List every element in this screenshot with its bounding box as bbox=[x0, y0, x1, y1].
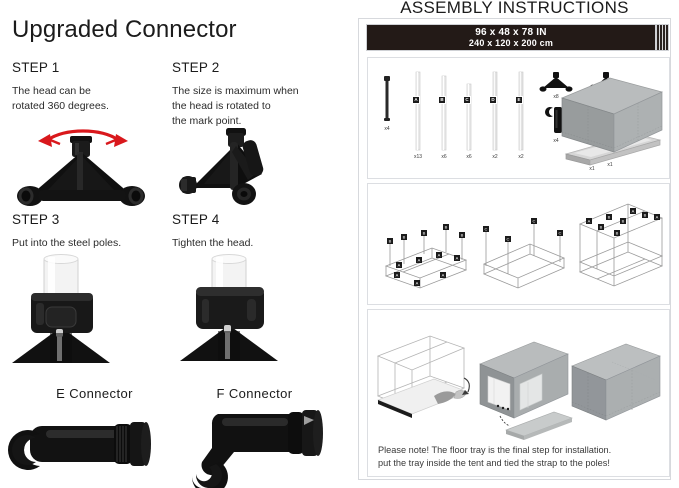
upgraded-connector-panel: Upgraded Connector STEP 1 The head can b… bbox=[0, 0, 350, 488]
cover-part bbox=[554, 74, 666, 156]
step-2-label: STEP 2 bbox=[172, 60, 337, 75]
pole-marker-d: D bbox=[489, 96, 497, 104]
pole-part-c bbox=[463, 84, 475, 150]
frame-assembly-panel: BBB BB AAA AAA A CC CC bbox=[367, 183, 670, 305]
svg-text:B: B bbox=[403, 235, 406, 240]
pole-qty-c: x6 bbox=[457, 154, 481, 160]
svg-text:B: B bbox=[461, 233, 464, 238]
pole-marker-b: B bbox=[438, 96, 446, 104]
svg-text:C: C bbox=[559, 231, 562, 236]
pole-marker-a: A bbox=[412, 96, 420, 104]
cover-open-stage bbox=[476, 338, 576, 448]
base-frame-stage: BBB BB AAA AAA A bbox=[374, 214, 474, 296]
svg-text:B: B bbox=[600, 225, 603, 230]
svg-text:A: A bbox=[418, 258, 421, 263]
pole-qty-e: x2 bbox=[509, 154, 533, 160]
pole-marker-c: C bbox=[463, 96, 471, 104]
strap-part bbox=[382, 76, 392, 124]
svg-text:A: A bbox=[632, 209, 635, 214]
svg-text:B: B bbox=[389, 239, 392, 244]
svg-text:B: B bbox=[644, 213, 647, 218]
svg-text:A: A bbox=[396, 273, 399, 278]
svg-text:B: B bbox=[423, 231, 426, 236]
dimensions-banner: 96 x 48 x 78 IN 240 x 120 x 200 cm bbox=[366, 24, 656, 51]
top-frame-stage: ABB BAB AB bbox=[576, 200, 668, 296]
svg-text:C: C bbox=[507, 237, 510, 242]
svg-text:A: A bbox=[398, 263, 401, 268]
pole-part-a bbox=[412, 72, 424, 150]
dimensions-imperial: 96 x 48 x 78 IN bbox=[475, 27, 546, 38]
step-4-block: STEP 4 Tighten the head. bbox=[172, 212, 337, 251]
svg-text:A: A bbox=[588, 219, 591, 224]
step-4-description: Tighten the head. bbox=[172, 236, 337, 251]
svg-text:A: A bbox=[456, 256, 459, 261]
cover-qty: x1 bbox=[598, 162, 622, 168]
svg-text:C: C bbox=[485, 227, 488, 232]
pole-tightened-icon bbox=[178, 255, 308, 367]
vertical-poles-stage: CC CC bbox=[478, 204, 570, 296]
e-connector-label: E Connector bbox=[12, 386, 177, 401]
step-2-block: STEP 2 The size is maximum when the head… bbox=[172, 60, 337, 129]
y-connector-angled-icon bbox=[174, 122, 324, 212]
step-3-block: STEP 3 Put into the steel poles. bbox=[12, 212, 177, 251]
pole-part-e bbox=[515, 72, 527, 150]
assembly-instructions-title: ASSEMBLY INSTRUCTIONS bbox=[358, 0, 671, 18]
tray-insert-stage bbox=[372, 334, 480, 434]
y-connector-rotating-icon bbox=[8, 122, 158, 212]
e-connector-icon bbox=[6, 404, 166, 484]
svg-text:B: B bbox=[608, 215, 611, 220]
pole-qty-d: x2 bbox=[483, 154, 507, 160]
pole-qty-b: x6 bbox=[432, 154, 456, 160]
step-3-label: STEP 3 bbox=[12, 212, 177, 227]
svg-text:B: B bbox=[622, 219, 625, 224]
pole-part-b bbox=[438, 76, 450, 150]
parts-list-panel: x4 A x13 B x6 C x6 D x2 bbox=[367, 57, 670, 179]
step-3-description: Put into the steel poles. bbox=[12, 236, 177, 251]
cover-closed-stage bbox=[568, 340, 668, 432]
f-connector-label: F Connector bbox=[172, 386, 337, 401]
pole-qty-a: x13 bbox=[406, 154, 430, 160]
pole-marker-e: E bbox=[515, 96, 523, 104]
svg-text:A: A bbox=[438, 253, 441, 258]
step-1-label: STEP 1 bbox=[12, 60, 177, 75]
pole-insert-icon bbox=[10, 255, 140, 367]
svg-text:A: A bbox=[656, 215, 659, 220]
f-connector-icon bbox=[176, 400, 336, 488]
step-4-label: STEP 4 bbox=[172, 212, 337, 227]
pole-part-d bbox=[489, 72, 501, 150]
page-title: Upgraded Connector bbox=[12, 16, 237, 44]
dimensions-metric: 240 x 120 x 200 cm bbox=[469, 38, 553, 49]
svg-text:A: A bbox=[416, 281, 419, 286]
step-1-description: The head can be rotated 360 degrees. bbox=[12, 84, 177, 114]
step-1-block: STEP 1 The head can be rotated 360 degre… bbox=[12, 60, 177, 114]
svg-text:A: A bbox=[442, 273, 445, 278]
svg-text:C: C bbox=[533, 219, 536, 224]
banner-stripe-decoration bbox=[656, 24, 669, 51]
strap-qty: x4 bbox=[376, 126, 398, 132]
installation-note: Please note! The floor tray is the final… bbox=[378, 444, 668, 469]
svg-text:B: B bbox=[445, 225, 448, 230]
svg-text:B: B bbox=[616, 231, 619, 236]
